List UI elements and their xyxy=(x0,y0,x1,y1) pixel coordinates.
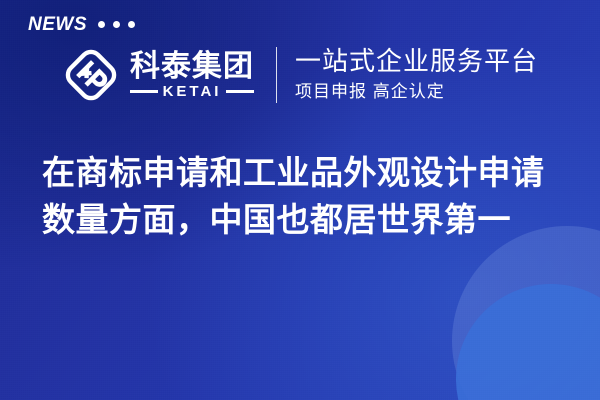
dot-icon xyxy=(128,21,135,28)
slogan-sub: 项目申报 高企认定 xyxy=(295,82,538,102)
decorative-circle-soft xyxy=(452,226,600,400)
eyebrow-dots-icon xyxy=(98,21,135,28)
brand-name-en-row: KETAI xyxy=(130,84,254,99)
rule-right xyxy=(226,90,254,93)
brand-row: 科泰集团 KETAI 一站式企业服务平台 项目申报 高企认定 xyxy=(60,44,538,106)
dot-icon xyxy=(113,21,120,28)
brand-name-cn: 科泰集团 xyxy=(130,51,254,83)
news-eyebrow: NEWS xyxy=(28,15,135,34)
brand-divider xyxy=(276,47,277,103)
dot-icon xyxy=(98,21,105,28)
decorative-circle-accent xyxy=(456,284,600,400)
news-label: NEWS xyxy=(28,15,87,34)
rule-left xyxy=(130,90,158,93)
slogan-block: 一站式企业服务平台 项目申报 高企认定 xyxy=(295,47,538,102)
ketai-diamond-kt-logo-icon xyxy=(60,44,122,106)
headline-text: 在商标申请和工业品外观设计申请数量方面，中国也都居世界第一 xyxy=(42,150,566,244)
news-banner: NEWS xyxy=(0,0,600,400)
brand-wordmark: 科泰集团 KETAI xyxy=(130,51,254,100)
slogan-main: 一站式企业服务平台 xyxy=(295,47,538,77)
brand-name-en: KETAI xyxy=(163,84,222,99)
